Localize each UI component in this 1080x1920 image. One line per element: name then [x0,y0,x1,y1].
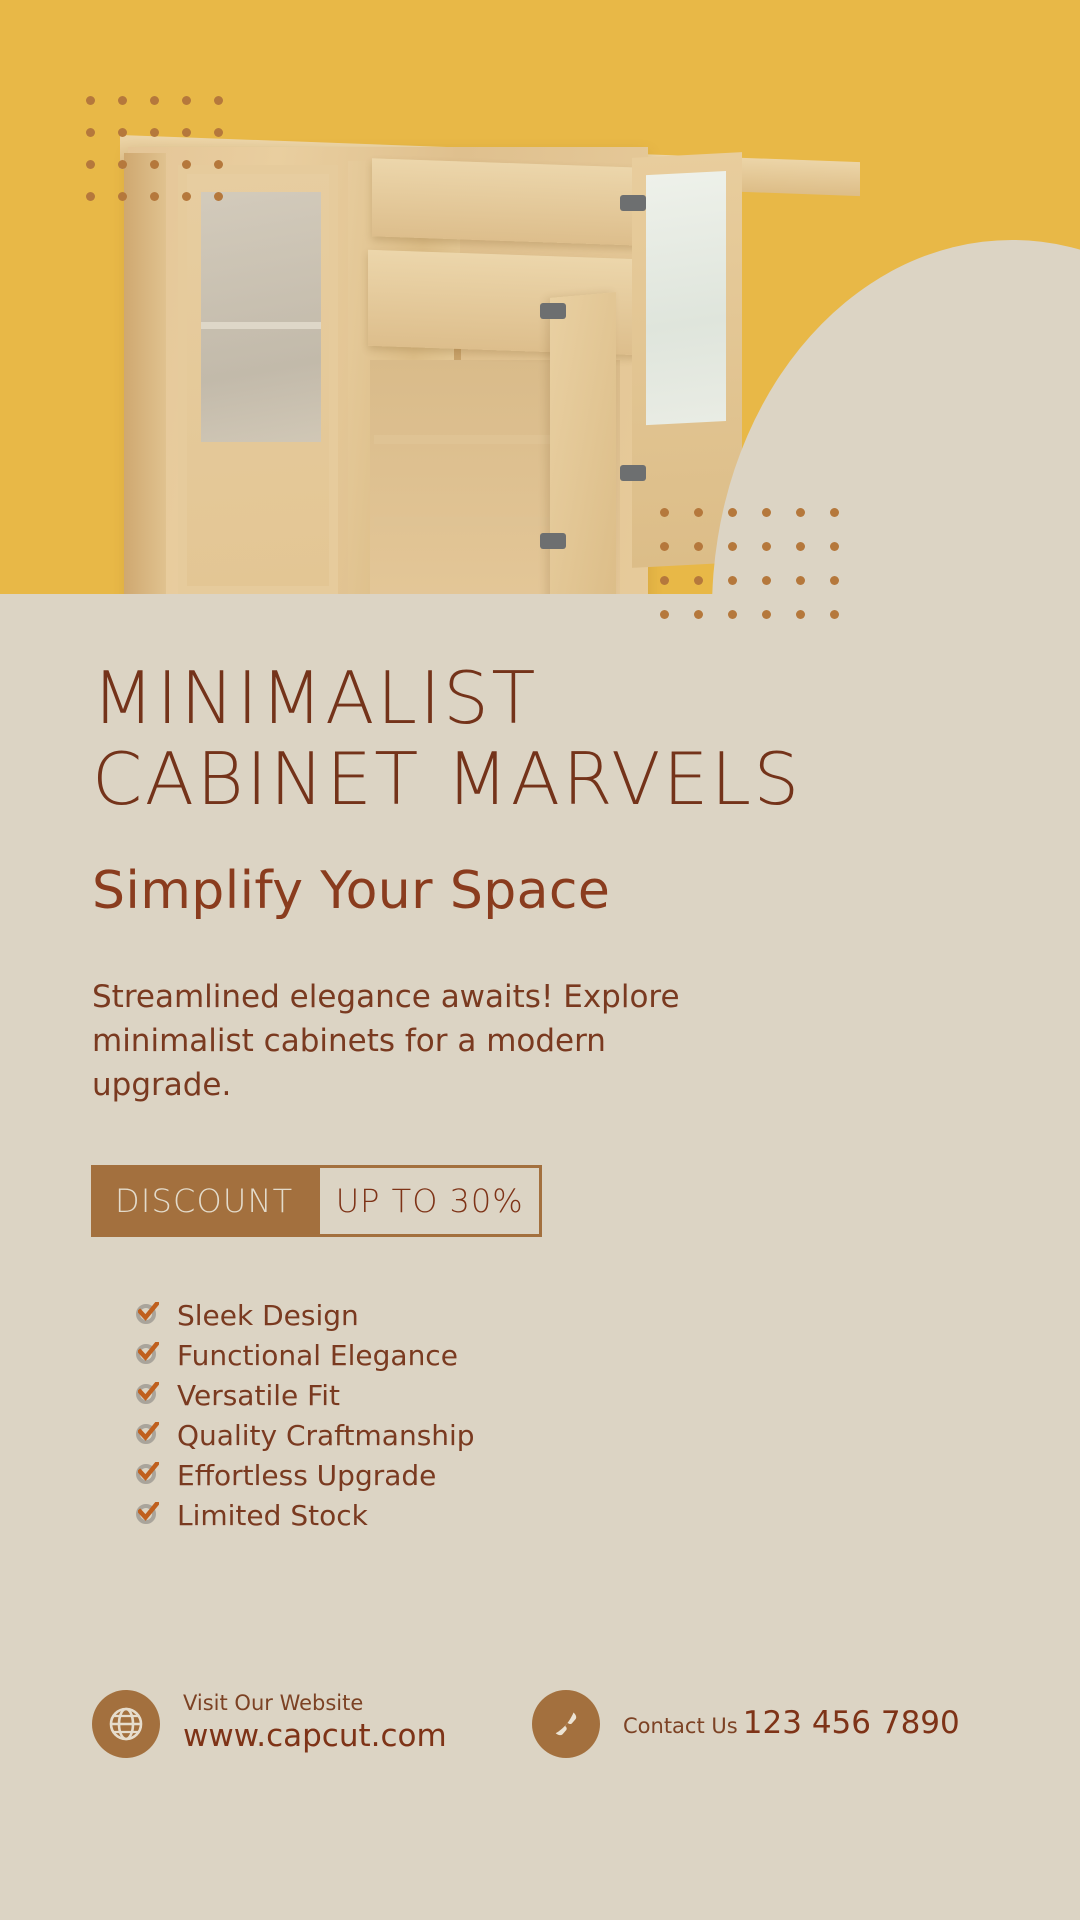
globe-icon [92,1690,160,1758]
feature-label: Effortless Upgrade [177,1459,436,1492]
contact-website-text: Visit Our Website www.capcut.com [160,1690,532,1758]
list-item: Limited Stock [135,1499,1080,1532]
list-item: Functional Elegance [135,1339,1080,1372]
hinge-lower-icon [540,533,566,549]
contact-phone-text: Contact Us 123 456 7890 [600,1703,960,1745]
hero-section [0,0,1080,594]
phone-icon [532,1690,600,1758]
body-copy-line-1: Streamlined elegance awaits! Explore [92,975,732,1019]
check-circle-icon [135,1382,161,1408]
feature-label: Sleek Design [177,1299,359,1332]
discount-label: DISCOUNT [91,1165,317,1237]
contact-phone-label: Contact Us [623,1714,738,1738]
body-copy-line-2: minimalist cabinets for a modern upgrade… [92,1019,732,1108]
glass-shelf-upper [201,322,321,329]
glass-pane [201,192,321,442]
check-circle-icon [135,1302,161,1328]
contact-phone-value: 123 456 7890 [743,1705,960,1741]
list-item: Sleek Design [135,1299,1080,1332]
feature-list: Sleek Design Functional Elegance Versati… [0,1237,1080,1532]
body-copy: Streamlined elegance awaits! Explore min… [0,921,732,1108]
page-title-line-2: CABINET MARVELS [92,739,1080,820]
check-circle-icon [135,1502,161,1528]
hinge-upper-icon [540,303,566,319]
page-title: MINIMALIST CABINET MARVELS [0,594,1080,821]
cabinet-drawer-bottom [368,250,668,356]
feature-label: Functional Elegance [177,1339,458,1372]
cabinet-drawer-top [372,158,642,245]
contact-website-value: www.capcut.com [183,1718,447,1754]
feature-label: Limited Stock [177,1499,368,1532]
content-section: MINIMALIST CABINET MARVELS Simplify Your… [0,594,1080,1539]
page-title-line-1: MINIMALIST [92,658,1080,739]
check-circle-icon [135,1342,161,1368]
discount-value: UP TO 30% [317,1165,542,1237]
discount-badge[interactable]: DISCOUNT UP TO 30% [91,1165,542,1237]
list-item: Versatile Fit [135,1379,1080,1412]
list-item: Quality Craftmanship [135,1419,1080,1452]
contact-website[interactable]: Visit Our Website www.capcut.com [92,1690,532,1758]
hinge-mirror-upper-icon [620,195,646,211]
feature-label: Quality Craftmanship [177,1419,475,1452]
hinge-mirror-lower-icon [620,465,646,481]
poster-canvas: MINIMALIST CABINET MARVELS Simplify Your… [0,0,1080,1920]
contact-phone[interactable]: Contact Us 123 456 7890 [532,1690,960,1758]
contact-website-label: Visit Our Website [183,1691,363,1715]
footer-contact-bar: Visit Our Website www.capcut.com Contact… [0,1690,1080,1758]
check-circle-icon [135,1462,161,1488]
feature-label: Versatile Fit [177,1379,340,1412]
decorative-dots-top-left [86,96,246,224]
cabinet-glass-door [178,165,338,594]
list-item: Effortless Upgrade [135,1459,1080,1492]
page-subtitle: Simplify Your Space [0,821,1080,921]
check-circle-icon [135,1422,161,1448]
mirror-pane [646,171,726,425]
